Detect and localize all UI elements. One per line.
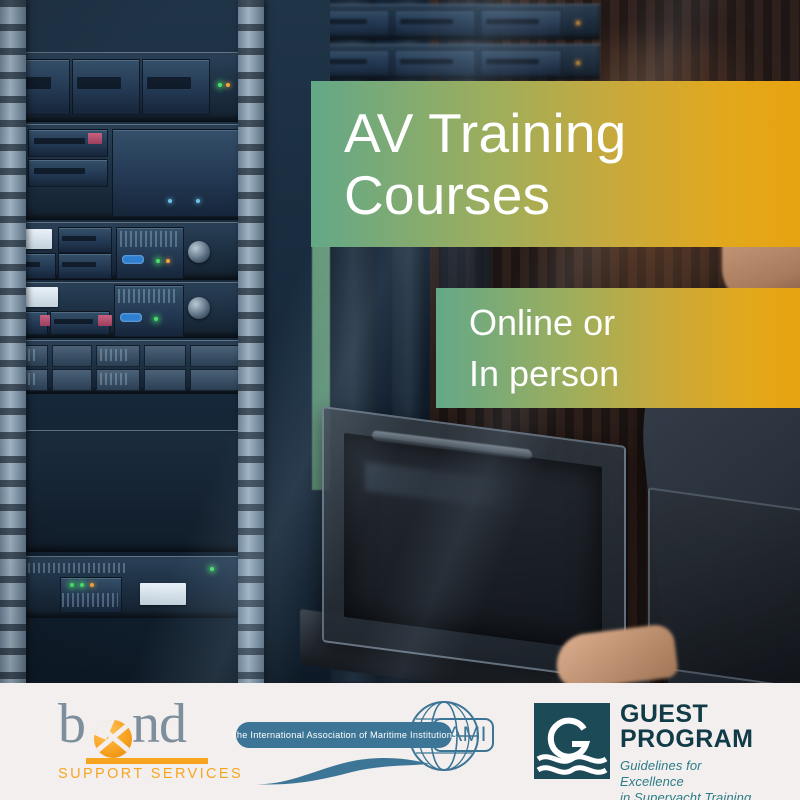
subtitle-banner: Online or In person	[436, 288, 800, 408]
server-unit	[0, 222, 246, 280]
subtitle-line-1: Online or	[469, 297, 800, 348]
drive-bay	[394, 10, 476, 36]
server-unit	[300, 4, 600, 40]
guest-text-block: GUEST PROGRAM Guidelines for Excellence …	[620, 702, 766, 800]
screen-reflection	[365, 461, 515, 510]
drive-bay	[58, 253, 112, 279]
rack-label	[140, 583, 186, 605]
subtitle-line-2: In person	[469, 348, 800, 399]
wave-swoosh-icon	[252, 756, 432, 786]
guest-tagline-line-1: Guidelines for Excellence	[620, 758, 766, 790]
title-line-2: Courses	[344, 164, 800, 226]
rack-rail-left	[0, 0, 26, 683]
logo-bond-support-services[interactable]: b nd SUPPORT SERVICES	[56, 702, 206, 780]
logo-guest-program[interactable]: GUEST PROGRAM Guidelines for Excellence …	[534, 703, 766, 783]
logo-iami[interactable]: IAMI The International Association of Ma…	[236, 700, 498, 786]
drive-bay	[480, 50, 562, 76]
title-banner: AV Training Courses	[311, 81, 800, 247]
laptop-screen	[344, 433, 602, 651]
bond-wordmark-nd: nd	[132, 698, 186, 750]
bond-wordmark: b nd	[56, 702, 206, 754]
server-unit-dark	[0, 430, 246, 552]
server-unit	[0, 124, 246, 220]
poster-canvas: AV Training Courses Online or In person …	[0, 0, 800, 800]
guest-g-mark-icon	[534, 703, 610, 779]
drive-bay	[72, 59, 140, 115]
drive-bay	[28, 159, 108, 187]
server-unit	[0, 340, 246, 394]
server-unit	[0, 282, 246, 338]
bond-tagline: SUPPORT SERVICES	[58, 766, 243, 782]
drive-bay	[394, 50, 476, 76]
bond-wordmark-b: b	[58, 698, 85, 750]
server-unit	[0, 52, 246, 122]
guest-tagline-line-2: in Superyacht Training	[620, 790, 766, 800]
iami-name-band: The International Association of Maritim…	[236, 722, 452, 748]
rack-rail-right	[238, 0, 264, 683]
guest-title-line-1: GUEST	[620, 702, 766, 727]
server-unit	[300, 44, 600, 80]
drive-bay	[112, 129, 244, 217]
iami-full-name: The International Association of Maritim…	[231, 730, 457, 740]
drive-bay	[480, 10, 562, 36]
guest-title-line-2: PROGRAM	[620, 727, 766, 752]
drive-bay	[142, 59, 210, 115]
title-line-1: AV Training	[344, 102, 800, 164]
drive-bay	[58, 227, 112, 253]
server-unit	[0, 556, 246, 618]
bond-sphere-icon	[94, 720, 132, 758]
bond-divider-rule	[86, 758, 208, 764]
